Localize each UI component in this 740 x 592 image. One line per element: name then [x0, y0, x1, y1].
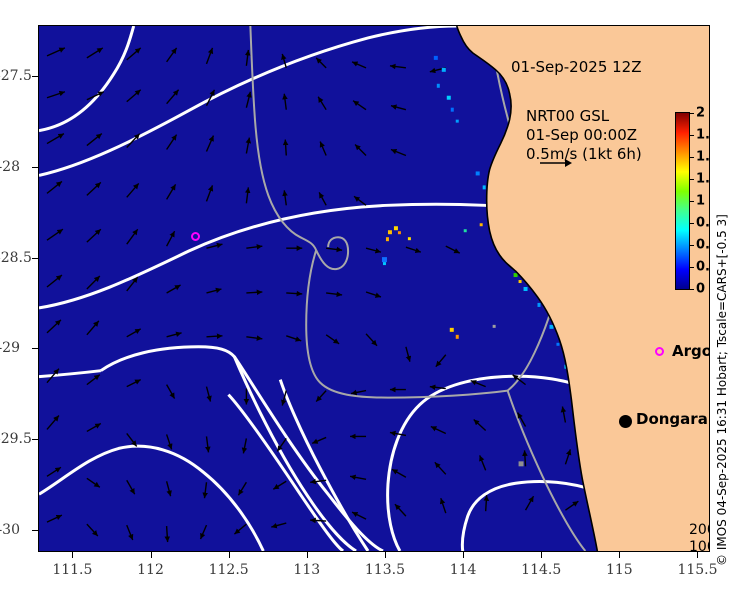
argo-legend-label: Argo [672, 342, 709, 360]
figure-root: 01-Sep-2025 12Z NRT00 GSL 01-Sep 00:00Z … [0, 0, 740, 592]
dongara-label: Dongara [636, 410, 708, 428]
colorbar-tick-label: 0.75 [696, 216, 709, 231]
colorbar-tick [690, 201, 694, 202]
product-name: NRT00 GSL [526, 107, 642, 126]
x-axis-tick-label: 115 [606, 562, 633, 578]
argo-legend: Argo [655, 342, 709, 360]
colorbar-tick [690, 223, 694, 224]
colorbar-tick [690, 113, 694, 114]
date-stamp: 01-Sep-2025 12Z [511, 58, 642, 76]
y-axis-tick-label: -28.5 [0, 250, 20, 266]
y-axis-tick [32, 439, 38, 440]
y-axis-tick-label: -29.5 [0, 431, 20, 447]
colorbar-tick [690, 267, 694, 268]
y-axis-tick [32, 258, 38, 259]
depth-contour-legend: 200m 1000m [689, 522, 709, 551]
x-axis-tick-label: 113 [293, 562, 320, 578]
colorbar-tick-label: 1 [696, 194, 705, 209]
vector-scale-arrow-icon [539, 157, 573, 169]
colorbar-gradient [676, 113, 689, 289]
x-axis-tick-label: 114.5 [521, 562, 561, 578]
dongara-station-marker[interactable] [619, 415, 632, 428]
x-axis-tick-label: 112 [137, 562, 164, 578]
colorbar-tick [690, 157, 694, 158]
colorbar-tick [690, 289, 694, 290]
current-product-annotation: NRT00 GSL 01-Sep 00:00Z 0.5m/s (1kt 6h) [526, 107, 642, 164]
colorbar-tick-label: 1.25 [696, 172, 709, 187]
credit-text: © IMOS 04-Sep-2025 16:31 Hobart; Tscale=… [715, 214, 729, 566]
x-axis-tick [463, 552, 464, 558]
x-axis-tick-label: 111.5 [52, 562, 92, 578]
depth-1000-label: 1000m [689, 539, 709, 551]
colorbar-tick [690, 245, 694, 246]
x-axis-tick-label: 115.5 [677, 562, 717, 578]
x-axis-tick [307, 552, 308, 558]
y-axis-tick-label: -28 [0, 159, 20, 175]
map-plot-area[interactable]: 01-Sep-2025 12Z NRT00 GSL 01-Sep 00:00Z … [38, 25, 710, 552]
depth-200-label: 200m [689, 522, 709, 539]
y-axis-tick [32, 530, 38, 531]
argo-float-marker[interactable] [191, 232, 200, 241]
colorbar-tick-label: 0.5 [696, 238, 709, 253]
colorbar-tick-label: 2 [696, 106, 705, 121]
y-axis-tick [32, 76, 38, 77]
x-axis-tick-label: 113.5 [365, 562, 405, 578]
colorbar-tick-label: 0 [696, 282, 705, 297]
y-axis-tick-label: -30 [0, 522, 20, 538]
colorbar-tick [690, 135, 694, 136]
colorbar [675, 112, 690, 290]
colorbar-tick-label: 1.5 [696, 150, 709, 165]
x-axis-tick [151, 552, 152, 558]
x-axis-tick [697, 552, 698, 558]
y-axis-tick [32, 348, 38, 349]
y-axis-tick-label: -27.5 [0, 68, 20, 84]
colorbar-tick-label: 1.75 [696, 128, 709, 143]
x-axis-tick [619, 552, 620, 558]
x-axis-tick [229, 552, 230, 558]
x-axis-tick-label: 112.5 [209, 562, 249, 578]
product-time: 01-Sep 00:00Z [526, 126, 642, 145]
argo-legend-icon [655, 347, 664, 356]
x-axis-tick [541, 552, 542, 558]
colorbar-tick-label: 0.25 [696, 260, 709, 275]
x-axis-tick [385, 552, 386, 558]
y-axis-tick [32, 167, 38, 168]
x-axis-tick-label: 114 [450, 562, 477, 578]
colorbar-tick [690, 179, 694, 180]
y-axis-tick-label: -29 [0, 340, 20, 356]
coastline [39, 26, 709, 551]
x-axis-tick [72, 552, 73, 558]
